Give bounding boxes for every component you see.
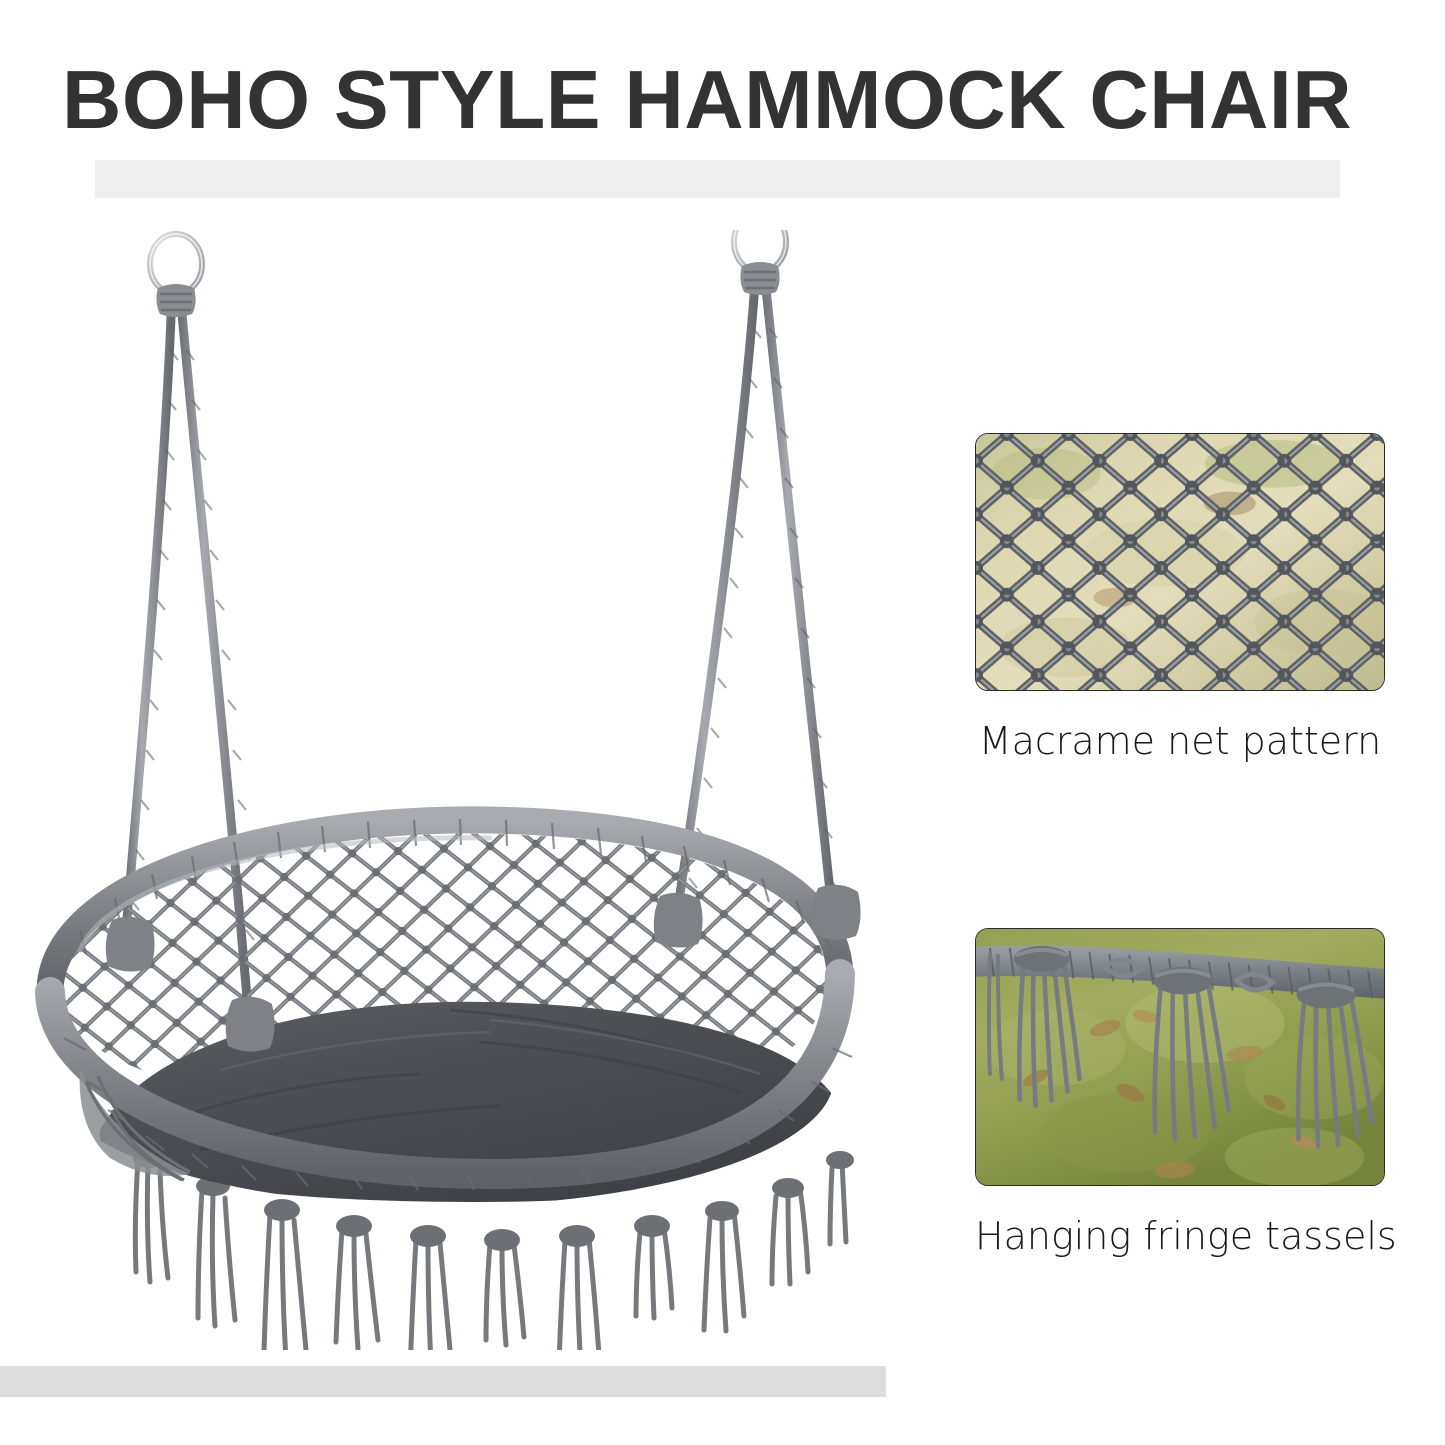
feature-image-macrame-net [975, 433, 1385, 691]
hanging-ring-right [734, 230, 786, 295]
feature-fringe-tassels: Hanging fringe tassels [975, 928, 1385, 1258]
footer-accent-bar [0, 1366, 886, 1397]
page-title: BOHO STYLE HAMMOCK CHAIR [62, 58, 1379, 141]
title-background-band [95, 160, 1340, 198]
feature-caption-macrame-net: Macrame net pattern [975, 719, 1385, 763]
feature-image-fringe-tassels [975, 928, 1385, 1186]
hanging-ring-left [150, 234, 202, 317]
product-image-hammock-chair [20, 230, 920, 1350]
feature-macrame-net: Macrame net pattern [975, 433, 1385, 763]
feature-caption-fringe-tassels: Hanging fringe tassels [975, 1214, 1385, 1258]
